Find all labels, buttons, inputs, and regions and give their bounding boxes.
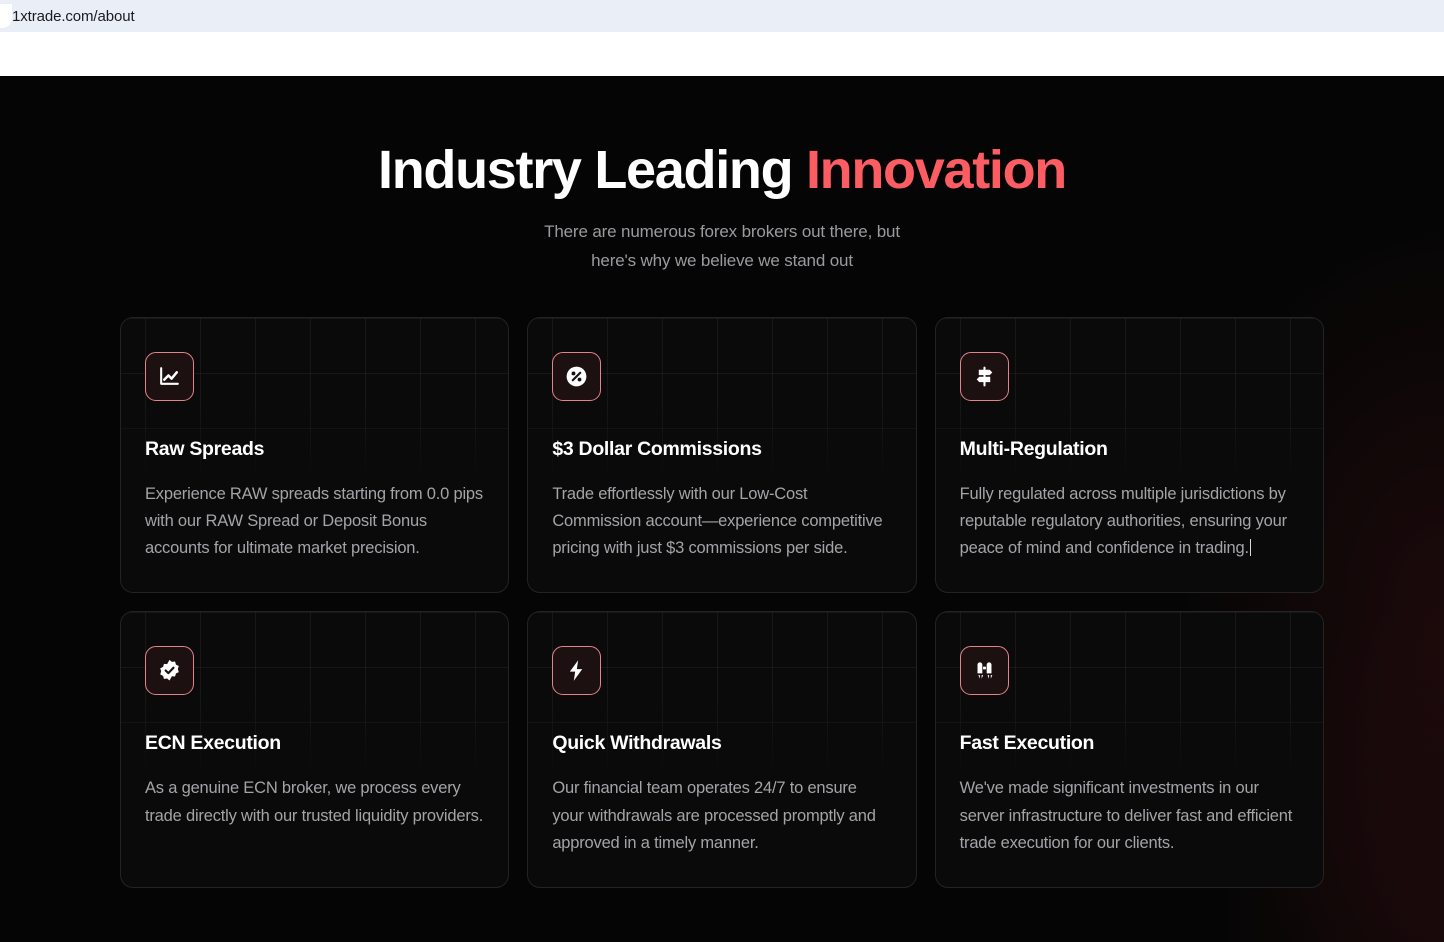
feature-card-description: Our financial team operates 24/7 to ensu… — [552, 775, 891, 857]
url-text: 1xtrade.com/about — [0, 8, 135, 25]
feature-card-title: $3 Dollar Commissions — [552, 438, 891, 461]
feature-card-description: Experience RAW spreads starting from 0.0… — [145, 481, 484, 563]
feature-card[interactable]: ECN Execution As a genuine ECN broker, w… — [120, 611, 509, 888]
feature-card[interactable]: Multi-Regulation Fully regulated across … — [935, 317, 1324, 594]
rocket-boosters-icon — [960, 646, 1009, 695]
feature-card[interactable]: Quick Withdrawals Our financial team ope… — [527, 611, 916, 888]
page-subtitle-line-1: There are numerous forex brokers out the… — [544, 222, 900, 241]
line-chart-icon — [145, 352, 194, 401]
page-title-lead: Industry Leading — [378, 140, 806, 200]
feature-card-description-text: Fully regulated across multiple jurisdic… — [960, 485, 1287, 557]
feature-card-description: We've made significant investments in ou… — [960, 775, 1299, 857]
feature-card-title: Multi-Regulation — [960, 438, 1299, 461]
feature-card[interactable]: Raw Spreads Experience RAW spreads start… — [120, 317, 509, 594]
feature-card-title: ECN Execution — [145, 732, 484, 755]
text-cursor-caret — [1250, 539, 1251, 556]
feature-card[interactable]: Fast Execution We've made significant in… — [935, 611, 1324, 888]
lightning-bolt-icon — [552, 646, 601, 695]
percent-badge-icon — [552, 352, 601, 401]
page-subtitle-line-2: here's why we believe we stand out — [591, 251, 853, 270]
verified-badge-icon — [145, 646, 194, 695]
feature-card-grid: Raw Spreads Experience RAW spreads start… — [120, 317, 1324, 888]
signpost-icon — [960, 352, 1009, 401]
page-title-accent: Innovation — [806, 140, 1066, 200]
browser-url-bar[interactable]: 1xtrade.com/about — [0, 0, 1444, 32]
feature-card-description: As a genuine ECN broker, we process ever… — [145, 775, 484, 829]
feature-card-description: Fully regulated across multiple jurisdic… — [960, 481, 1299, 563]
feature-card-title: Fast Execution — [960, 732, 1299, 755]
about-page: Industry Leading Innovation There are nu… — [0, 76, 1444, 942]
hero-section: Industry Leading Innovation There are nu… — [0, 76, 1444, 276]
feature-card[interactable]: $3 Dollar Commissions Trade effortlessly… — [527, 317, 916, 594]
page-subtitle: There are numerous forex brokers out the… — [0, 217, 1444, 275]
page-title: Industry Leading Innovation — [0, 142, 1444, 199]
feature-card-title: Quick Withdrawals — [552, 732, 891, 755]
page-top-whitespace — [0, 32, 1444, 76]
feature-card-description: Trade effortlessly with our Low-Cost Com… — [552, 481, 891, 563]
feature-card-title: Raw Spreads — [145, 438, 484, 461]
